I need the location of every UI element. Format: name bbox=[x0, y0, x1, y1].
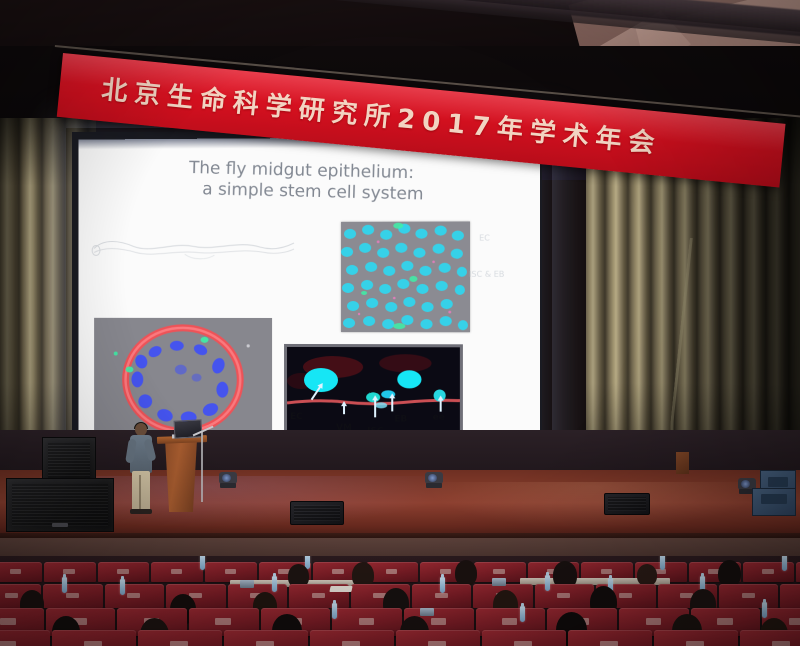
labeled-epithelium-micrograph: EC VM ISC EB ee bbox=[284, 344, 463, 437]
audience-member bbox=[718, 560, 741, 587]
projection-screen: The fly midgut epithelium: a simple stem… bbox=[78, 136, 540, 461]
auditorium-lecture-photo: The fly midgut epithelium: a simple stem… bbox=[0, 0, 800, 646]
presenter-trousers bbox=[132, 471, 150, 511]
theater-seat[interactable] bbox=[366, 562, 418, 582]
presenter bbox=[128, 423, 154, 516]
auditorium-seating bbox=[0, 556, 800, 646]
seat-row-front bbox=[0, 630, 800, 646]
audience-laptop[interactable] bbox=[240, 580, 254, 588]
ee-pointer-arrow bbox=[440, 400, 442, 412]
slide-title-line2: a simple stem cell system bbox=[202, 179, 520, 207]
audience-member bbox=[637, 564, 657, 586]
water-bottle[interactable] bbox=[762, 602, 767, 618]
audience-member bbox=[455, 560, 477, 586]
slide-annotation-ec: EC bbox=[479, 233, 490, 242]
vm-pointer-arrow bbox=[343, 405, 345, 414]
backstage-chair bbox=[676, 452, 689, 474]
event-banner: 北京生命科学研究所2017年学术年会 bbox=[55, 43, 795, 173]
presenter-shoes bbox=[130, 509, 152, 514]
printed-handout bbox=[329, 586, 352, 592]
isc-pointer-arrow bbox=[374, 399, 376, 417]
theater-seat[interactable] bbox=[224, 630, 308, 646]
blue-speaker-cabinet bbox=[752, 488, 796, 516]
audience-laptop[interactable] bbox=[492, 578, 506, 586]
label-ec: EC bbox=[290, 412, 303, 422]
theater-seat[interactable] bbox=[138, 630, 222, 646]
banner-cloth: 北京生命科学研究所2017年学术年会 bbox=[57, 53, 786, 188]
theater-seat[interactable] bbox=[205, 562, 257, 582]
water-bottle[interactable] bbox=[200, 556, 205, 570]
water-bottle[interactable] bbox=[782, 556, 787, 571]
pa-subwoofer bbox=[6, 478, 114, 532]
water-bottle[interactable] bbox=[440, 577, 445, 593]
label-eb: EB bbox=[394, 414, 407, 424]
cyan-nuclei-micrograph bbox=[341, 221, 470, 332]
stage-monitor-wedge bbox=[290, 501, 344, 525]
fly-gut-line-drawing-icon bbox=[90, 230, 298, 264]
presenter-laptop-screen bbox=[174, 419, 203, 438]
moving-head-stage-light bbox=[424, 470, 444, 488]
label-ee: ee bbox=[433, 413, 445, 423]
theater-seat[interactable] bbox=[396, 630, 480, 646]
theater-seat[interactable] bbox=[482, 630, 566, 646]
theater-seat[interactable] bbox=[780, 584, 800, 608]
theater-seat[interactable] bbox=[52, 630, 136, 646]
moving-head-stage-light bbox=[218, 470, 238, 488]
theater-seat[interactable] bbox=[719, 584, 778, 608]
water-bottle[interactable] bbox=[120, 579, 125, 595]
theater-seat[interactable] bbox=[105, 584, 164, 608]
water-bottle[interactable] bbox=[660, 556, 665, 570]
presenter-leg-split bbox=[139, 475, 141, 511]
speaker-grille bbox=[12, 484, 108, 526]
water-bottle[interactable] bbox=[332, 603, 337, 619]
theater-seat[interactable] bbox=[43, 584, 102, 608]
slide-annotation-isc-eb: ISC & EB bbox=[469, 270, 504, 279]
floor-reflection bbox=[430, 482, 760, 528]
microphone-stand bbox=[201, 432, 203, 502]
water-bottle[interactable] bbox=[62, 577, 67, 593]
theater-seat[interactable] bbox=[0, 562, 42, 582]
theater-seat[interactable] bbox=[654, 630, 738, 646]
water-bottle[interactable] bbox=[520, 606, 525, 622]
theater-seat[interactable] bbox=[535, 584, 594, 608]
theater-seat[interactable] bbox=[151, 562, 203, 582]
theater-seat[interactable] bbox=[44, 562, 96, 582]
stage-monitor-wedge bbox=[604, 493, 650, 515]
audience-laptop[interactable] bbox=[420, 608, 434, 616]
theater-seat[interactable] bbox=[740, 630, 800, 646]
speaker-badge bbox=[52, 523, 68, 527]
theater-seat[interactable] bbox=[568, 630, 652, 646]
eb-pointer-arrow bbox=[391, 397, 393, 411]
water-bottle[interactable] bbox=[272, 576, 277, 592]
theater-seat[interactable] bbox=[310, 630, 394, 646]
theater-seat[interactable] bbox=[796, 562, 800, 582]
theater-seat[interactable] bbox=[0, 630, 50, 646]
water-bottle[interactable] bbox=[545, 575, 550, 591]
